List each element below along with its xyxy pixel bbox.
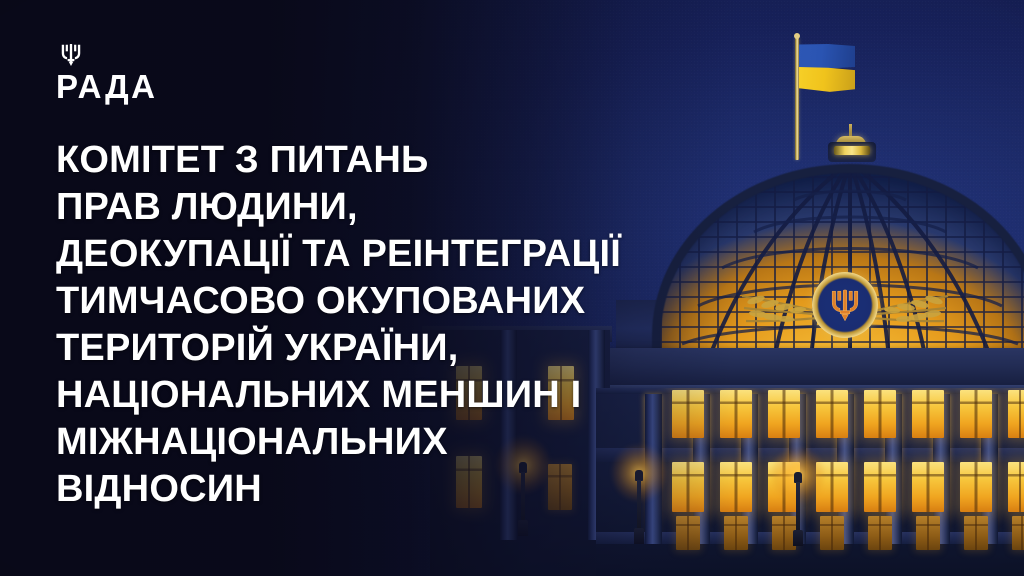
lamp-post — [796, 482, 800, 536]
window — [768, 390, 800, 438]
headline-line-3: ДЕОКУПАЦІЇ ТА РЕІНТЕГРАЦІЇ — [56, 231, 756, 278]
window — [1008, 462, 1024, 512]
window — [912, 390, 944, 438]
trident-icon — [830, 288, 860, 322]
wreath-right-icon — [870, 288, 954, 328]
window — [820, 516, 844, 550]
window — [868, 516, 892, 550]
brand-name: РАДА — [56, 70, 158, 103]
dome-lantern — [828, 142, 876, 162]
window — [916, 516, 940, 550]
headline-line-4: ТИМЧАСОВО ОКУПОВАНИХ — [56, 278, 756, 325]
window — [960, 390, 992, 438]
dome-lantern-glass — [834, 146, 870, 155]
lamp-base — [518, 520, 528, 536]
window — [864, 462, 896, 512]
headline-line-1: КОМІТЕТ З ПИТАНЬ — [56, 137, 756, 184]
window — [912, 462, 944, 512]
headline-line-7: МІЖНАЦІОНАЛЬНИХ — [56, 419, 756, 466]
ukraine-coat-of-arms-icon — [812, 272, 878, 338]
window — [676, 516, 700, 550]
brand-lockup: РАДА — [56, 42, 158, 103]
window — [1008, 390, 1024, 438]
lamp-base — [634, 528, 644, 544]
flag-blue-band — [799, 44, 855, 69]
window — [864, 390, 896, 438]
window — [724, 516, 748, 550]
window — [816, 390, 848, 438]
ukraine-trident-icon — [60, 42, 82, 68]
window — [1012, 516, 1024, 550]
window — [964, 516, 988, 550]
headline-line-2: ПРАВ ЛЮДИНИ, — [56, 184, 756, 231]
flag-yellow-band — [799, 67, 855, 93]
headline-line-5: ТЕРИТОРІЙ УКРАЇНИ, — [56, 325, 756, 372]
headline-line-6: НАЦІОНАЛЬНИХ МЕНШИН І — [56, 372, 756, 419]
lamp-base — [793, 530, 803, 546]
headline-line-8: ВІДНОСИН — [56, 466, 756, 513]
page-title: КОМІТЕТ З ПИТАНЬ ПРАВ ЛЮДИНИ, ДЕОКУПАЦІЇ… — [56, 137, 756, 513]
window — [960, 462, 992, 512]
banner-canvas: РАДА КОМІТЕТ З ПИТАНЬ ПРАВ ЛЮДИНИ, ДЕОКУ… — [0, 0, 1024, 576]
ukraine-flag-icon — [799, 44, 855, 92]
